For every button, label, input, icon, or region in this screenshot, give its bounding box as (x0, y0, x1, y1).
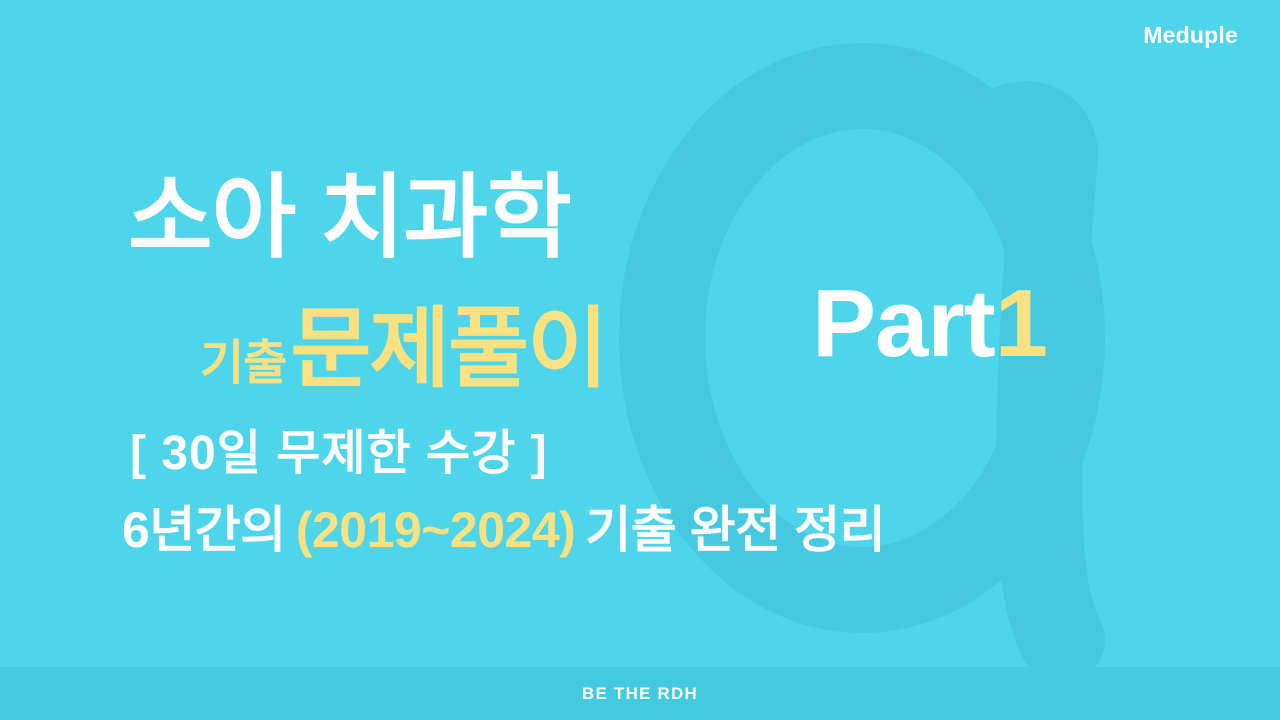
main-title: 소아 치과학 (128, 172, 571, 264)
duration-note: [ 30일 무제한 수강 ] (130, 430, 548, 478)
subtitle-large-text: 문제풀이 (290, 305, 606, 393)
coverage-suffix: 기출 완전 정리 (585, 505, 885, 555)
promo-slide: Meduple 소아 치과학 기출 문제풀이 Part1 [ 30일 무제한 수… (0, 0, 1280, 720)
coverage-prefix: 6년간의 (122, 505, 286, 555)
subtitle-line: 기출 문제풀이 (200, 305, 606, 393)
part-word: Part (812, 270, 995, 377)
footer-bar: BE THE RDH (0, 667, 1280, 720)
coverage-years: (2019~2024) (296, 505, 575, 555)
footer-tagline: BE THE RDH (582, 685, 698, 702)
headline-group: 소아 치과학 기출 문제풀이 Part1 [ 30일 무제한 수강 ] 6년간의… (0, 0, 1280, 668)
part-number: 1 (995, 270, 1047, 377)
part-label: Part1 (812, 276, 1047, 372)
coverage-note: 6년간의 (2019~2024) 기출 완전 정리 (122, 505, 885, 555)
subtitle-small-text: 기출 (200, 340, 286, 388)
